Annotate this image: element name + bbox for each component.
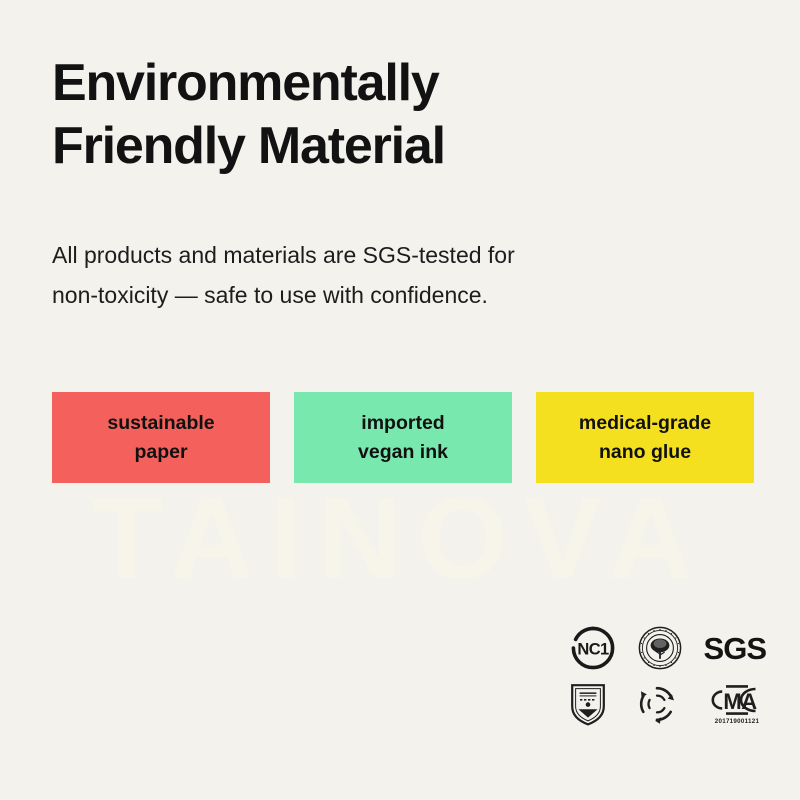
page-title: Environmentally Friendly Material — [52, 52, 692, 179]
cma-certificate-number: 201719001121 — [715, 719, 760, 725]
sgs-icon: SGS — [704, 633, 766, 664]
certification-logo-block: NC1 — [570, 620, 766, 732]
page-title-line-1: Environmentally — [52, 52, 692, 115]
cma-icon: MA 201719001121 — [708, 683, 766, 725]
material-badge-row: sustainable paper imported vegan ink med… — [52, 392, 754, 483]
material-badge-line-1: imported — [361, 409, 444, 438]
nc1-icon: NC1 — [570, 625, 616, 671]
recycling-icon — [635, 682, 679, 726]
material-badge-line-2: paper — [134, 438, 187, 467]
material-badge-imported-vegan-ink: imported vegan ink — [294, 392, 512, 483]
certification-logo-row-top: NC1 — [570, 620, 766, 676]
page-title-line-2: Friendly Material — [52, 115, 692, 178]
material-badge-line-2: vegan ink — [358, 438, 448, 467]
page-subtitle-line-1: All products and materials are SGS-teste… — [52, 236, 672, 276]
poster-canvas: TAINOVA Environmentally Friendly Materia… — [0, 0, 800, 800]
forest-seal-icon — [638, 626, 682, 670]
material-badge-line-1: medical-grade — [579, 409, 711, 438]
page-subtitle: All products and materials are SGS-teste… — [52, 236, 672, 315]
material-badge-medical-grade-nano-glue: medical-grade nano glue — [536, 392, 754, 483]
shield-icon — [570, 682, 606, 726]
material-badge-sustainable-paper: sustainable paper — [52, 392, 270, 483]
page-subtitle-line-2: non-toxicity — safe to use with confiden… — [52, 276, 672, 316]
certification-logo-row-bottom: MA 201719001121 — [570, 676, 766, 732]
material-badge-line-2: nano glue — [599, 438, 691, 467]
svg-text:MA: MA — [723, 689, 757, 714]
svg-text:NC1: NC1 — [577, 641, 609, 659]
brand-watermark: TAINOVA — [0, 480, 800, 596]
material-badge-line-1: sustainable — [107, 409, 214, 438]
